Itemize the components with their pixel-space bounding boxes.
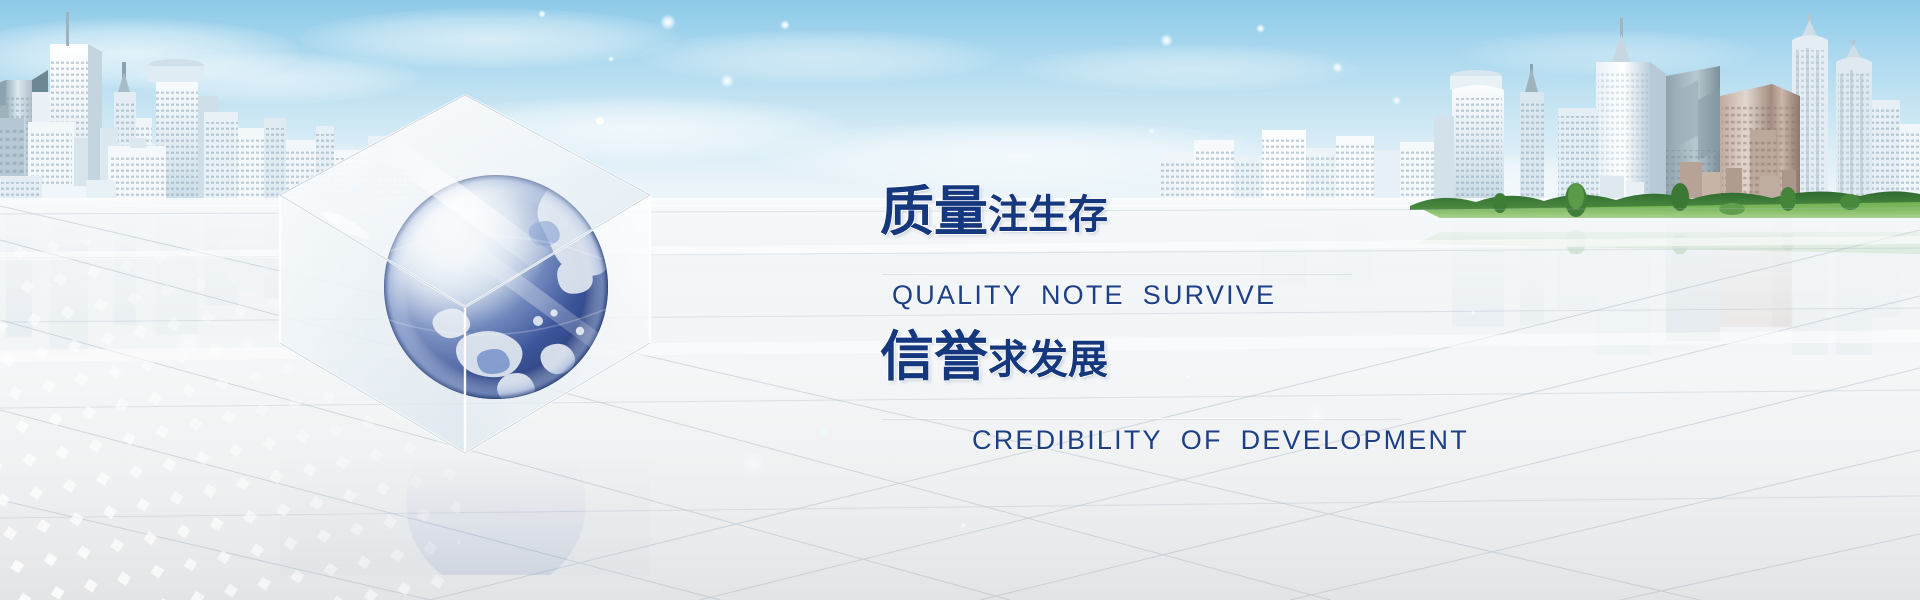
headline-divider-credibility xyxy=(882,418,1402,419)
headline-en-word: CREDIBILITY xyxy=(972,425,1163,455)
hero-banner: 质量注生存 QUALITYNOTESURVIVE 信誉求发展 CREDIBILI… xyxy=(0,0,1920,600)
headline-cn-primary-credibility: 信誉 xyxy=(880,327,988,387)
headline-divider-quality xyxy=(882,273,1352,274)
headline-cn-quality: 质量注生存 xyxy=(880,185,1108,239)
headline-cn-secondary-quality: 注生存 xyxy=(988,193,1108,237)
crystal-cube-with-globe xyxy=(250,75,680,475)
headline-group-quality: 质量注生存 QUALITYNOTESURVIVE xyxy=(880,185,1108,239)
headline-en-quality: QUALITYNOTESURVIVE xyxy=(892,280,1276,311)
headline-cn-credibility: 信誉求发展 xyxy=(880,330,1108,384)
headline-cn-primary-quality: 质量 xyxy=(880,182,988,242)
headline-en-word: NOTE xyxy=(1041,280,1125,310)
headline-en-word: DEVELOPMENT xyxy=(1241,425,1469,455)
headline-en-word: QUALITY xyxy=(892,280,1023,310)
headline-en-word: OF xyxy=(1181,425,1223,455)
headline-group-credibility: 信誉求发展 CREDIBILITYOFDEVELOPMENT xyxy=(880,330,1108,384)
headline-cn-secondary-credibility: 求发展 xyxy=(988,338,1108,382)
headline-en-credibility: CREDIBILITYOFDEVELOPMENT xyxy=(972,425,1469,456)
crystal-reflection xyxy=(250,455,680,575)
headline-en-word: SURVIVE xyxy=(1143,280,1276,310)
